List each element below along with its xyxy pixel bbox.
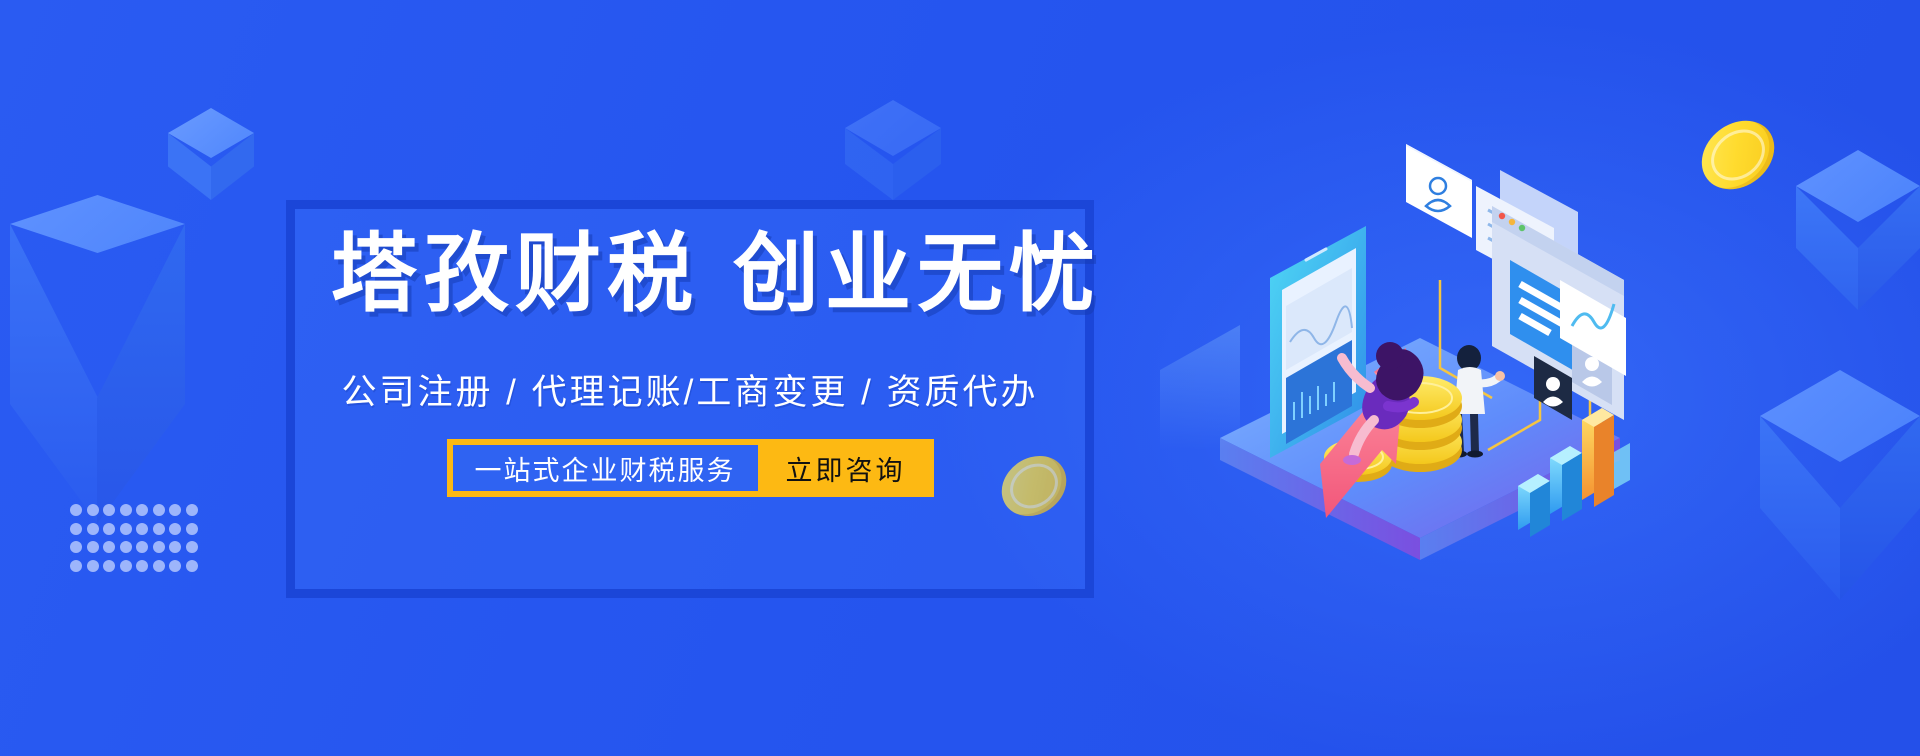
text-frame: 塔孜财税创业无忧 公司注册 / 代理记账/工商变更 / 资质代办 一站式企业财税… (286, 200, 1094, 598)
decor-dot (70, 523, 82, 535)
decor-dot (120, 541, 132, 553)
decor-dot (169, 504, 181, 516)
decor-dot (120, 504, 132, 516)
decor-dot (87, 504, 99, 516)
page-title: 塔孜财税创业无忧 (331, 225, 1071, 324)
decor-dot (153, 504, 165, 516)
decor-dot (87, 523, 99, 535)
decor-dot (169, 541, 181, 553)
decor-dot (153, 523, 165, 535)
decor-dot (153, 541, 165, 553)
decor-dot (186, 560, 198, 572)
decor-dot (136, 523, 148, 535)
decor-dot (120, 523, 132, 535)
decor-dot (103, 523, 115, 535)
consult-now-button[interactable]: 立即咨询 (758, 439, 934, 497)
decor-dot (103, 560, 115, 572)
promo-banner: 塔孜财税创业无忧 公司注册 / 代理记账/工商变更 / 资质代办 一站式企业财税… (0, 0, 1920, 756)
decor-dot (136, 560, 148, 572)
decor-dot (87, 541, 99, 553)
decor-dot (103, 541, 115, 553)
decor-dot (70, 560, 82, 572)
decor-dot (136, 504, 148, 516)
decor-dot (153, 560, 165, 572)
service-list-subtitle: 公司注册 / 代理记账/工商变更 / 资质代办 (295, 364, 1085, 415)
cta-row: 一站式企业财税服务 立即咨询 (295, 439, 1085, 497)
decor-dot (103, 504, 115, 516)
decor-dot (186, 504, 198, 516)
decor-dot (169, 560, 181, 572)
decor-dot (120, 560, 132, 572)
isometric-illustration (1120, 120, 1680, 600)
headline-part-1: 塔孜财税 (331, 226, 699, 322)
cta-group: 一站式企业财税服务 立即咨询 (447, 439, 934, 497)
decor-dot (87, 560, 99, 572)
decor-dot (169, 523, 181, 535)
decor-dot-grid (70, 504, 202, 578)
decor-dot (70, 504, 82, 516)
headline-part-2: 创业无忧 (733, 226, 1101, 322)
service-tag-label: 一站式企业财税服务 (453, 445, 758, 491)
illustration-user-card (1406, 144, 1472, 238)
decor-dot (186, 541, 198, 553)
decor-dot (186, 523, 198, 535)
decor-dot (70, 541, 82, 553)
decor-dot (136, 541, 148, 553)
